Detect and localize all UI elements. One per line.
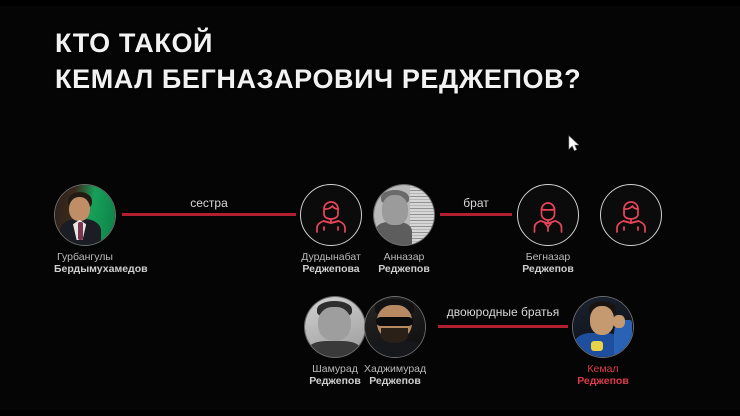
- node-family-name: Реджепов: [517, 263, 579, 275]
- edge-label-cousins: двоюродные братья: [420, 305, 586, 319]
- node-label-kemal: Кемал Реджепов: [572, 363, 634, 388]
- edge-label-sister: сестра: [122, 196, 296, 210]
- node-family-name: Бердымухамедов: [54, 263, 116, 275]
- node-given-name: Бегназар: [517, 251, 579, 263]
- title-line-2: КЕМАЛ БЕГНАЗАРОВИЧ РЕДЖЕПОВ?: [55, 62, 581, 98]
- node-given-name: Гурбангулы: [54, 251, 116, 263]
- node-given-name: Шамурад: [304, 363, 366, 375]
- node-shamurad[interactable]: Шамурад Реджепов: [304, 296, 366, 388]
- node-given-name: Хаджимурад: [364, 363, 426, 375]
- node-label-gurbanguly: Гурбангулы Бердымухамедов: [54, 251, 116, 276]
- node-given-name: Анназар: [373, 251, 435, 263]
- node-annanazar[interactable]: Анназар Реджепов: [373, 184, 435, 276]
- node-label-annanazar: Анназар Реджепов: [373, 251, 435, 276]
- node-unknown-aunt[interactable]: [600, 184, 662, 251]
- male-person-icon: [528, 196, 568, 236]
- female-person-icon: [311, 196, 351, 236]
- node-label-durdynabat: Дурдынабат Реджепова: [300, 251, 362, 276]
- node-family-name: Реджепова: [300, 263, 362, 275]
- node-family-name: Реджепов: [304, 375, 366, 387]
- edge-label-brother: брат: [430, 196, 522, 210]
- title-line-1: КТО ТАКОЙ: [55, 26, 581, 62]
- node-label-begnazar: Бегназар Реджепов: [517, 251, 579, 276]
- node-label-shamurad: Шамурад Реджепов: [304, 363, 366, 388]
- node-durdynabat[interactable]: Дурдынабат Реджепова: [300, 184, 362, 276]
- node-given-name: Дурдынабат: [300, 251, 362, 263]
- avatar-circle: [517, 184, 579, 246]
- avatar-circle: [300, 184, 362, 246]
- node-hajimurad[interactable]: Хаджимурад Реджепов: [364, 296, 426, 388]
- page-title: КТО ТАКОЙ КЕМАЛ БЕГНАЗАРОВИЧ РЕДЖЕПОВ?: [55, 26, 581, 98]
- node-family-name: Реджепов: [373, 263, 435, 275]
- edge-line-cousins: [438, 325, 568, 328]
- edge-line-sister: [122, 213, 296, 216]
- node-label-hajimurad: Хаджимурад Реджепов: [364, 363, 426, 388]
- node-family-name: Реджепов: [364, 375, 426, 387]
- node-family-name: Реджепов: [572, 375, 634, 387]
- node-begnazar[interactable]: Бегназар Реджепов: [517, 184, 579, 276]
- portrait-photo-shamurad: [304, 296, 366, 358]
- slide-canvas: КТО ТАКОЙ КЕМАЛ БЕГНАЗАРОВИЧ РЕДЖЕПОВ? с…: [0, 0, 740, 416]
- female-person-icon: [611, 196, 651, 236]
- portrait-photo-gurbanguly: [54, 184, 116, 246]
- portrait-photo-annanazar: [373, 184, 435, 246]
- avatar-circle: [600, 184, 662, 246]
- edge-line-brother: [440, 213, 512, 216]
- node-gurbanguly[interactable]: Гурбангулы Бердымухамедов: [54, 184, 116, 276]
- portrait-photo-hajimurad: [364, 296, 426, 358]
- node-given-name: Кемал: [572, 363, 634, 375]
